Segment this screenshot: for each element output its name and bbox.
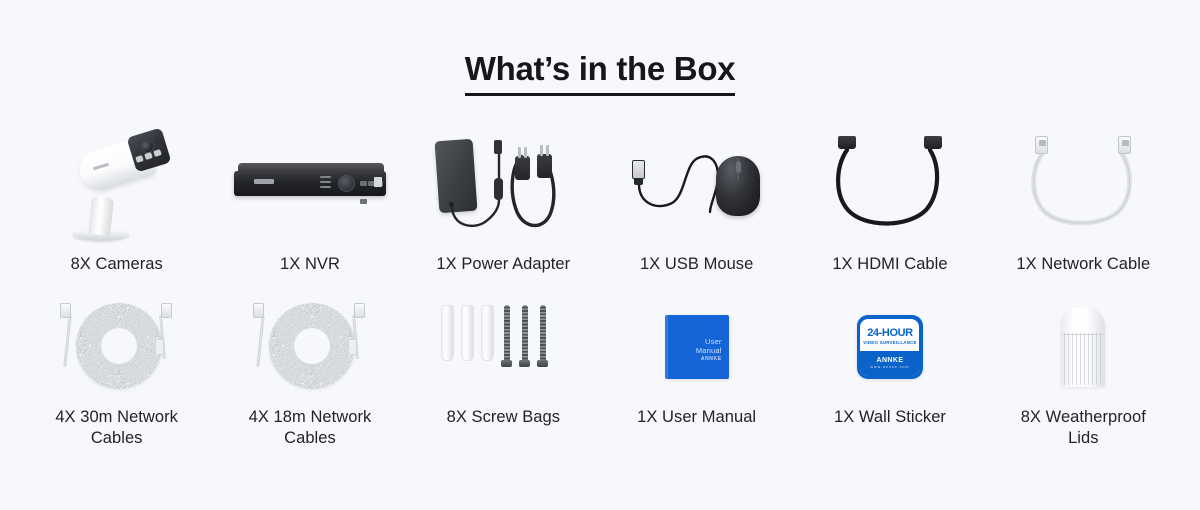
box-item-screw-bags: 8X Screw Bags [407,297,600,449]
box-item-user-manual: User Manual ANNKE 1X User Manual [600,297,793,449]
ac-plug-icon [515,156,530,180]
coiled-network-cable-icon [213,297,406,397]
manual-cover-text: User Manual [696,337,722,356]
camera-neck-icon [88,196,114,236]
screw-icon [501,305,512,367]
hdmi-connector-icon [838,136,856,149]
box-item-hdmi-cable: 1X HDMI Cable [793,124,986,275]
box-item-label: 8X Cameras [71,254,163,275]
box-item-label: 1X User Manual [637,407,756,428]
screw-icon [519,305,530,367]
box-item-power-adapter: 1X Power Adapter [407,124,600,275]
hdmi-cable-loop-path-icon [830,136,950,232]
box-item-weatherproof-lids: 8X Weatherproof Lids [987,297,1180,449]
box-item-usb-mouse: 1X USB Mouse [600,124,793,275]
network-cable-icon [987,124,1180,244]
box-item-label: 1X Power Adapter [436,254,570,275]
box-item-nvr: 1X NVR [213,124,406,275]
box-contents-row-2: 4X 30m Network Cables 4X 18m Network Cab… [0,297,1200,449]
wall-sticker-icon: 24-HOUR VIDEO SURVEILLANCE ANNKE www.ann… [793,297,986,397]
rj45-connector-icon [1035,136,1048,154]
nvr-led-indicators-icon [320,176,331,191]
box-item-label: 4X 30m Network Cables [53,407,181,449]
sticker-url-label: www.annke.com [870,366,909,370]
bullet-camera-icon [20,124,213,244]
page-title-container: What’s in the Box [0,0,1200,96]
cable-tail-icon [256,315,264,367]
cable-tail-icon [63,315,71,367]
rj45-connector-icon [1118,136,1131,154]
box-item-30m-network-cables: 4X 30m Network Cables [20,297,213,449]
wall-anchor-icon [461,305,474,361]
cable-tie-clip-icon [348,339,357,355]
ac-plug-icon [537,154,552,178]
box-item-cameras: 8X Cameras [20,124,213,275]
screw-icon [537,305,548,367]
box-item-label: 1X USB Mouse [640,254,753,275]
power-cable-path-icon [433,126,573,242]
sticker-brand-label: ANNKE [877,357,904,364]
page-title: What’s in the Box [465,50,736,96]
usb-mouse-icon [600,124,793,244]
box-item-label: 1X HDMI Cable [832,254,947,275]
nvr-buttons-icon [360,176,386,212]
cable-tie-clip-icon [155,339,164,355]
wall-anchor-icon [441,305,454,361]
nvr-recorder-icon [213,124,406,244]
nvr-brand-mark-icon [254,179,274,184]
nvr-usb-port-icon [374,177,382,187]
manual-brand-label: ANNKE [701,356,722,362]
dc-plug-tip-icon [494,140,502,154]
lid-ribs-icon [1064,333,1102,385]
weatherproof-lid-icon [987,297,1180,397]
box-item-label: 1X Wall Sticker [834,407,946,428]
wall-anchor-icon [481,305,494,361]
usb-cable-boot-icon [634,178,643,185]
box-item-network-cable: 1X Network Cable [987,124,1180,275]
inline-ferrite-icon [494,178,503,200]
rj45-connector-icon [161,303,172,318]
box-contents-row-1: 8X Cameras 1X NVR [0,124,1200,275]
box-item-label: 8X Weatherproof Lids [1019,407,1147,449]
screw-bag-icon [407,297,600,397]
rj45-connector-icon [354,303,365,318]
box-item-wall-sticker: 24-HOUR VIDEO SURVEILLANCE ANNKE www.ann… [793,297,986,449]
hdmi-cable-icon [793,124,986,244]
sticker-brand-band: ANNKE www.annke.com [860,351,919,376]
hdmi-connector-icon [924,136,942,149]
cable-coil-texture-icon [76,303,162,389]
box-item-label: 8X Screw Bags [447,407,560,428]
sticker-headline: 24-HOUR [867,328,913,339]
manual-spine-icon [665,315,668,379]
mouse-scroll-wheel-icon [736,161,741,173]
usb-connector-icon [632,160,645,179]
cable-coil-texture-icon [269,303,355,389]
whats-in-the-box-page: What’s in the Box 8X Cameras [0,0,1200,510]
power-adapter-icon [407,124,600,244]
nvr-jog-dial-icon [338,175,355,192]
rj45-connector-icon [253,303,264,318]
coiled-network-cable-icon [20,297,213,397]
box-item-label: 1X Network Cable [1016,254,1150,275]
sticker-subline: VIDEO SURVEILLANCE [863,341,916,345]
box-item-label: 4X 18m Network Cables [246,407,374,449]
rj45-connector-icon [60,303,71,318]
user-manual-icon: User Manual ANNKE [600,297,793,397]
box-item-label: 1X NVR [280,254,340,275]
box-item-18m-network-cables: 4X 18m Network Cables [213,297,406,449]
